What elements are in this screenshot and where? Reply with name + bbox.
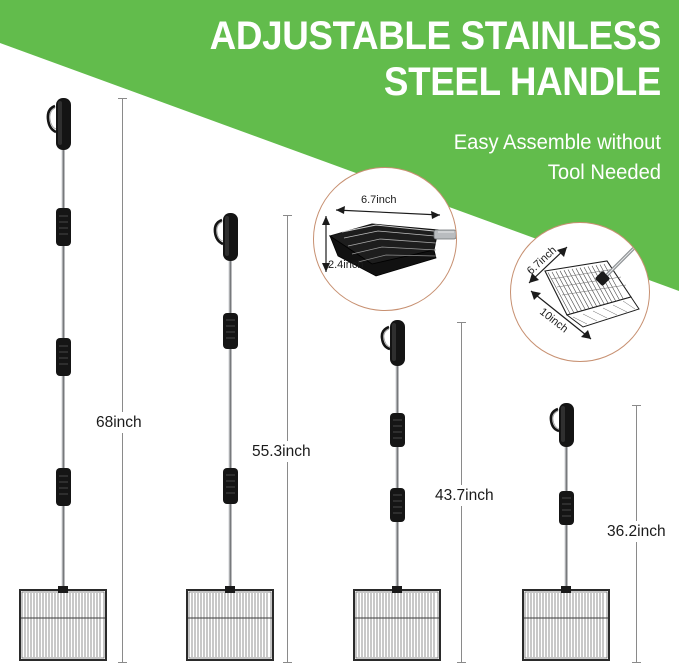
callout-open-rake-head: 6.7inch 10inch (510, 222, 650, 362)
collar-lock-1 (559, 491, 574, 525)
folded-width-dimension (336, 206, 440, 219)
collar-lock-1 (56, 208, 71, 246)
handle-grip (551, 403, 574, 447)
title-line-2: STEEL HANDLE (146, 60, 661, 106)
rake-36-2inch (521, 403, 611, 663)
handle-grip (382, 320, 405, 366)
rake-head (187, 586, 273, 660)
dimension-label-43-7inch: 43.7inch (432, 485, 497, 506)
collar-lock-3 (56, 468, 71, 506)
dimension-label-68inch: 68inch (93, 412, 145, 433)
infographic-canvas: ADJUSTABLE STAINLESS STEEL HANDLE Easy A… (0, 0, 679, 663)
collar-lock-2 (390, 488, 405, 522)
callout-folded-rake-head: 6.7inch 2.4inch (313, 167, 457, 311)
subtitle-line-1: Easy Assemble without (219, 128, 661, 158)
dimension-label-36-2inch: 36.2inch (604, 521, 669, 542)
rake-43-7inch (352, 320, 442, 663)
folded-width-label: 6.7inch (361, 194, 396, 206)
title-line-1: ADJUSTABLE STAINLESS (146, 14, 661, 60)
rake-head (20, 586, 106, 660)
rake-head (354, 586, 440, 660)
collar-lock-2 (223, 468, 238, 504)
folded-height-label: 2.4inch (328, 259, 363, 271)
rake-55-3inch (185, 213, 275, 663)
page-title: ADJUSTABLE STAINLESS STEEL HANDLE (146, 14, 661, 105)
collar-lock-1 (390, 413, 405, 447)
collar-lock-2 (56, 338, 71, 376)
collar-lock-1 (223, 313, 238, 349)
rake-head (523, 586, 609, 660)
dimension-label-55-3inch: 55.3inch (249, 441, 314, 462)
handle-grip (48, 98, 71, 150)
rake-68inch (18, 98, 108, 663)
handle-grip (215, 213, 238, 261)
